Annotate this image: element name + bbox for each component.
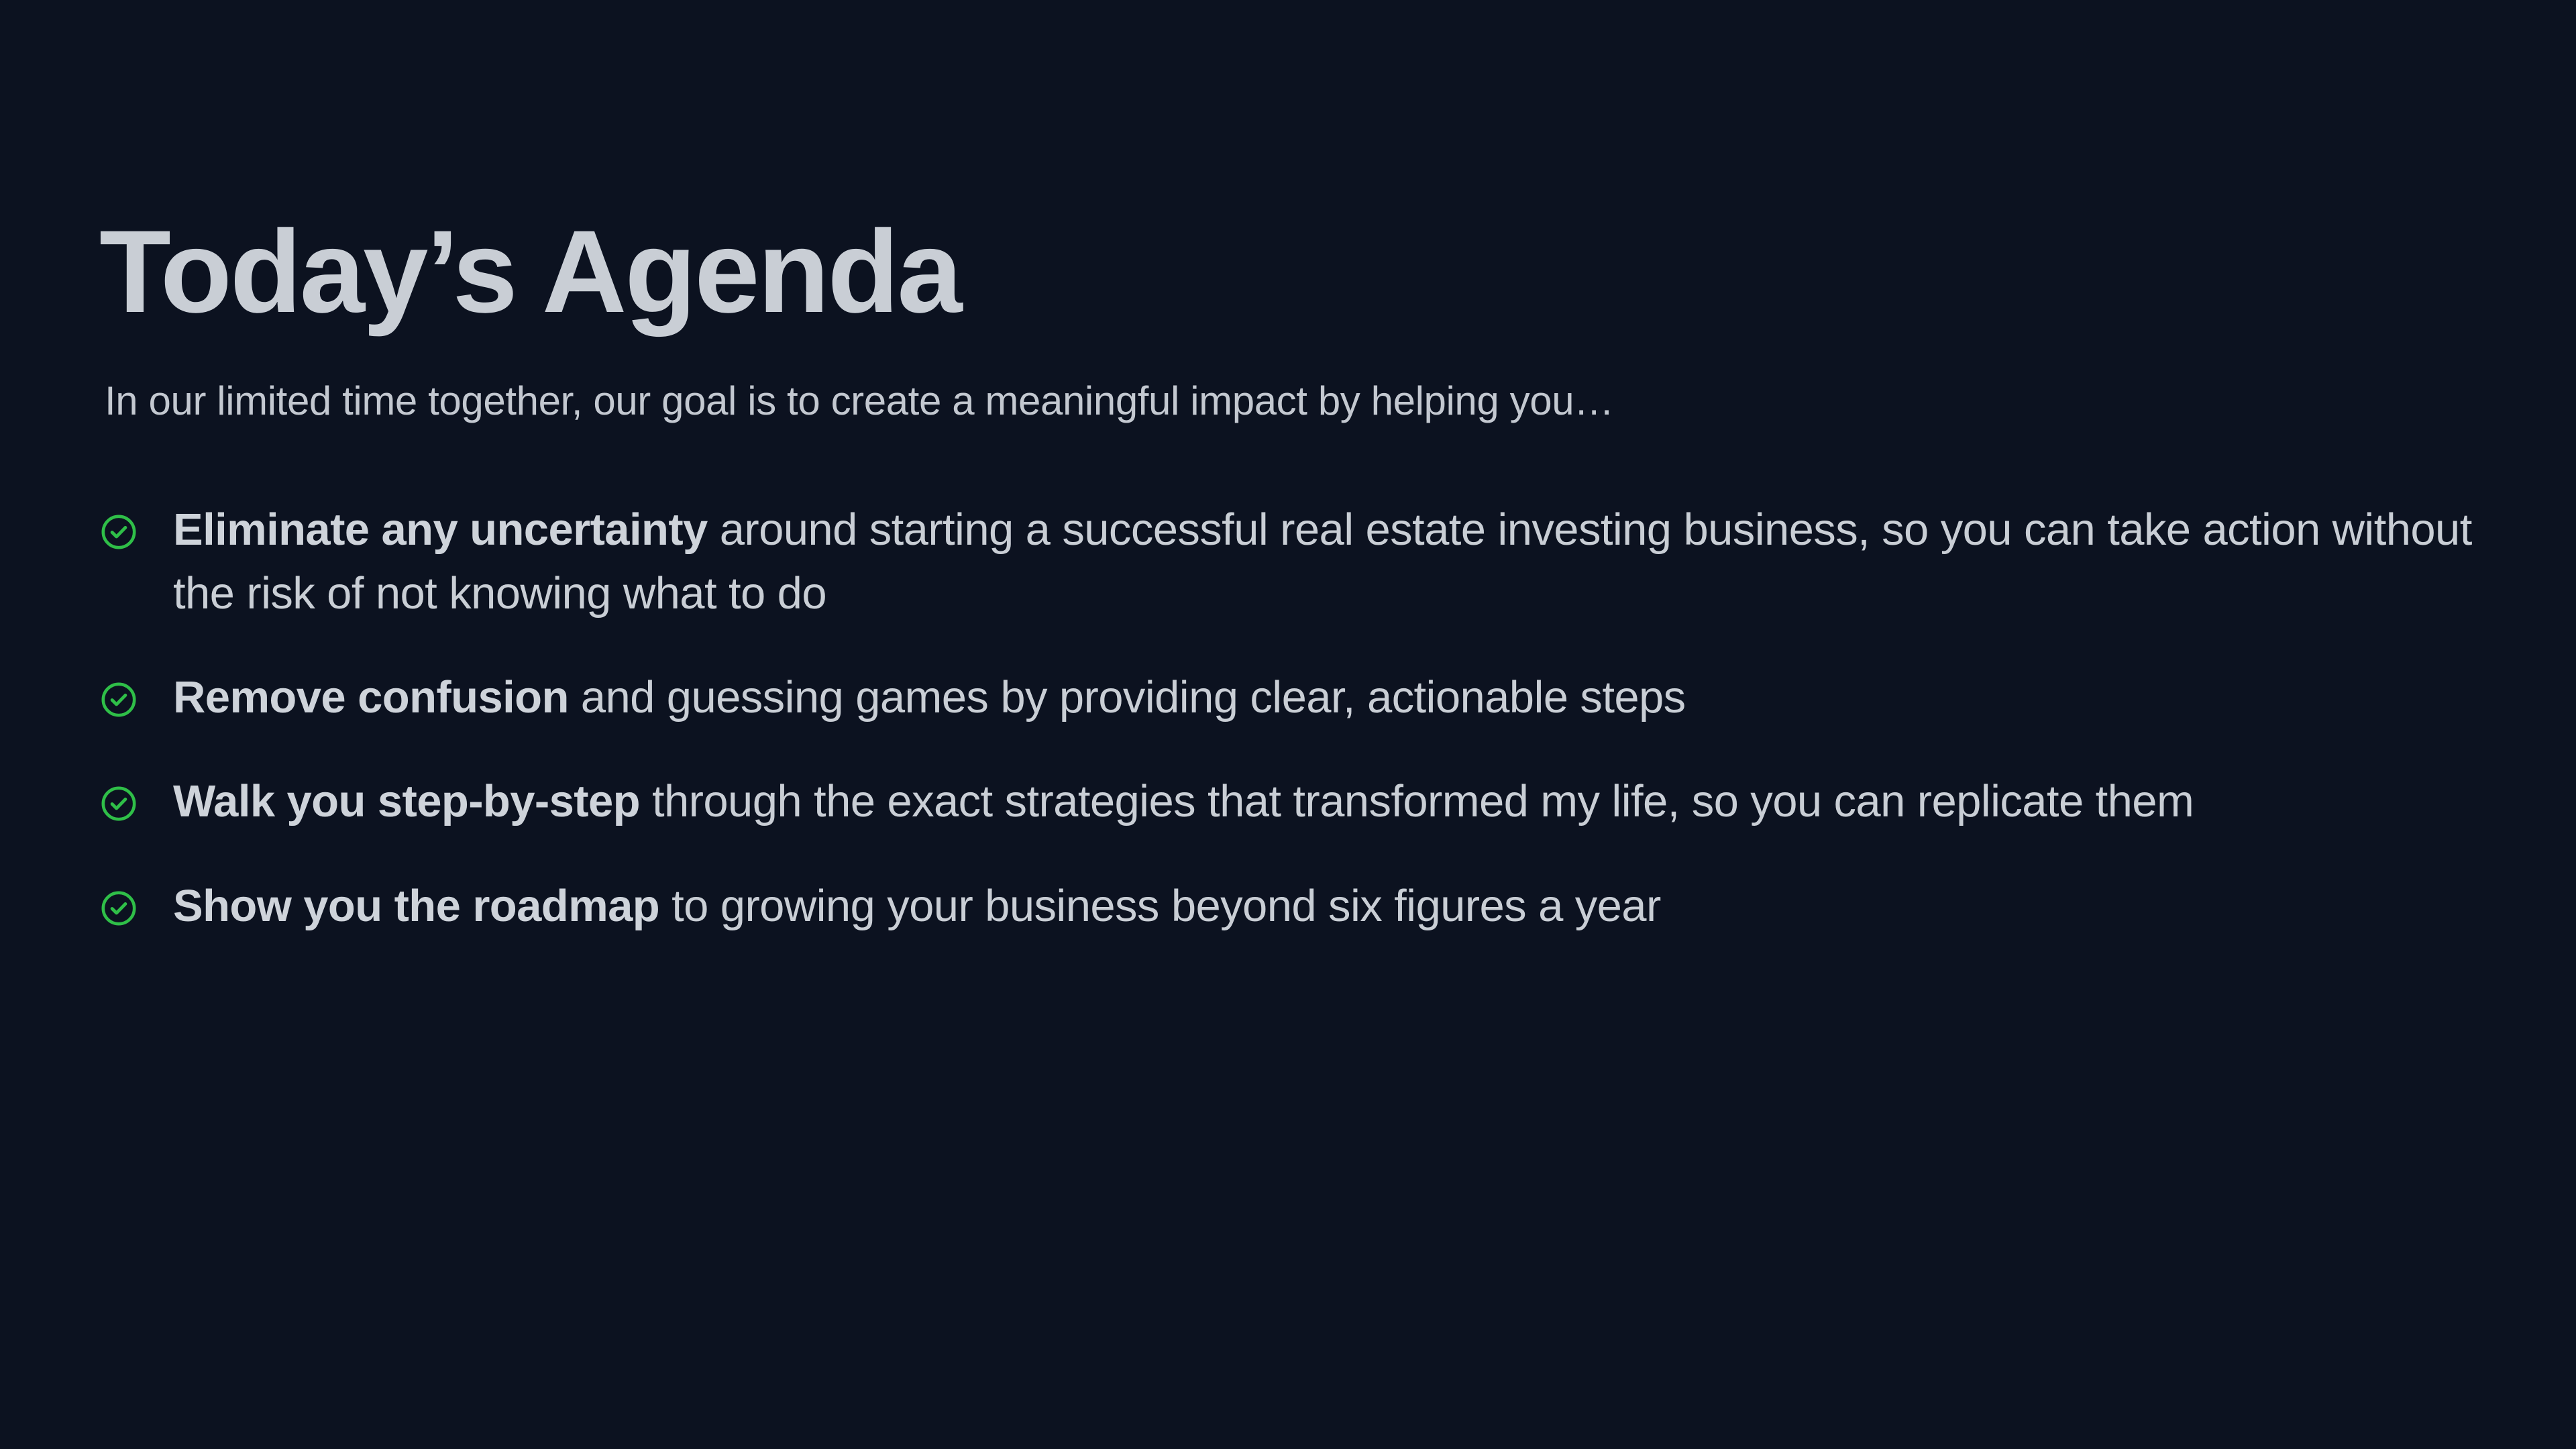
check-circle-icon (99, 889, 138, 928)
check-circle-icon (99, 680, 138, 719)
page-title: Today’s Agenda (99, 210, 961, 335)
list-item-rest: through the exact strategies that transf… (640, 776, 2194, 826)
list-item: Remove confusion and guessing games by p… (99, 665, 2487, 729)
list-item-text: Eliminate any uncertainty around startin… (173, 498, 2487, 625)
list-item-text: Walk you step-by-step through the exact … (173, 769, 2487, 833)
check-circle-icon (99, 513, 138, 551)
slide-subtitle: In our limited time together, our goal i… (105, 376, 1614, 426)
list-item-text: Show you the roadmap to growing your bus… (173, 874, 2487, 938)
list-item-rest: to growing your business beyond six figu… (659, 881, 1661, 931)
list-item-lead: Remove confusion (173, 672, 569, 722)
list-item: Walk you step-by-step through the exact … (99, 769, 2487, 833)
list-item-lead: Eliminate any uncertainty (173, 504, 708, 555)
list-item-text: Remove confusion and guessing games by p… (173, 665, 2487, 729)
check-circle-icon (99, 784, 138, 823)
list-item-rest: and guessing games by providing clear, a… (569, 672, 1686, 722)
list-item: Eliminate any uncertainty around startin… (99, 498, 2487, 625)
list-item-lead: Show you the roadmap (173, 881, 659, 931)
list-item-lead: Walk you step-by-step (173, 776, 640, 826)
list-item: Show you the roadmap to growing your bus… (99, 874, 2487, 938)
agenda-list: Eliminate any uncertainty around startin… (99, 498, 2487, 938)
agenda-slide: Today’s Agenda In our limited time toget… (0, 0, 2576, 1449)
